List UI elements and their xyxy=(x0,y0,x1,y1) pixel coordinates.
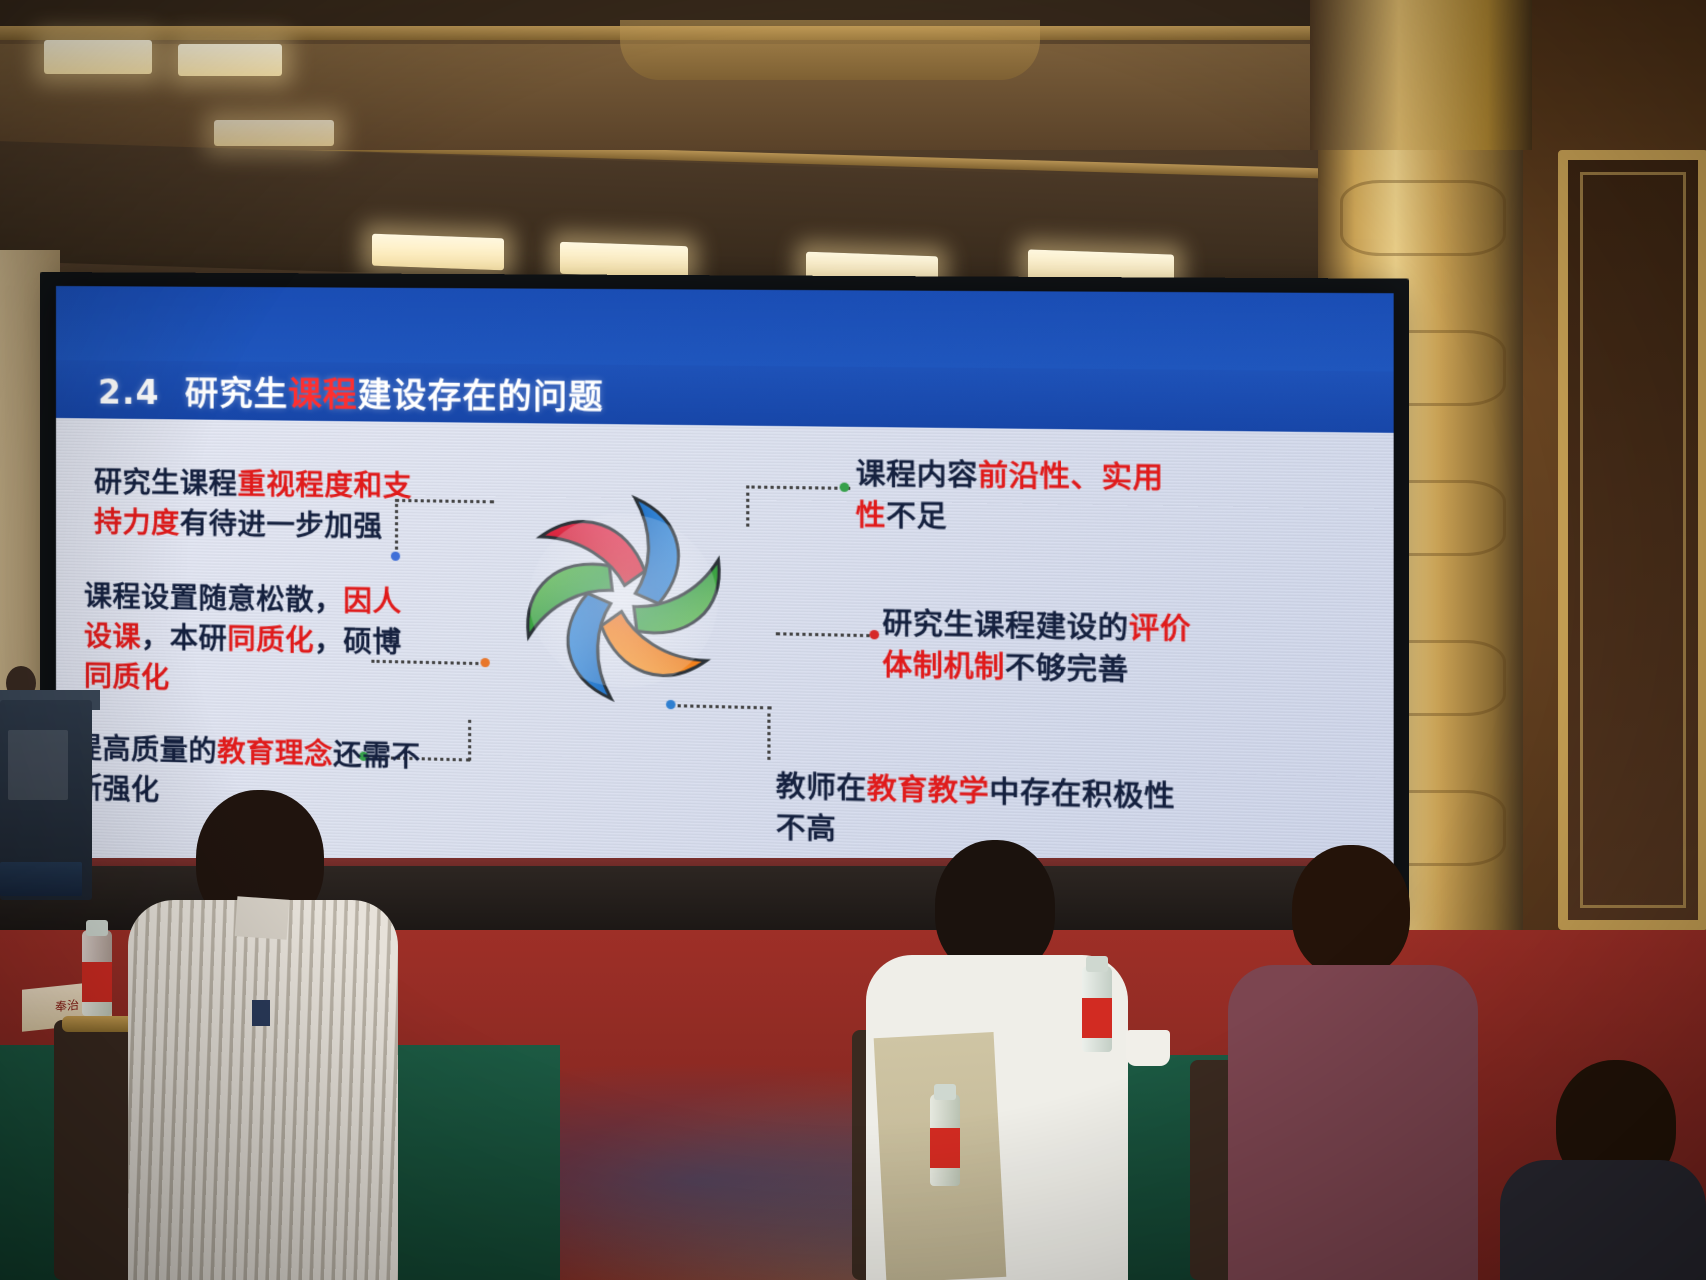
callout-text: 不高 xyxy=(776,810,837,846)
callout-text: 不够完善 xyxy=(1005,650,1129,687)
callout-line: 课程内容前沿性、实用 xyxy=(856,454,1247,501)
node-middle-left xyxy=(481,658,490,667)
wall-art-frame xyxy=(1558,150,1706,930)
node-top-left xyxy=(391,552,400,561)
audience-head-3 xyxy=(1292,845,1410,977)
callout-line: 设课，本研同质化，硕博 xyxy=(84,616,429,663)
callout-text: 课程内容 xyxy=(856,457,978,493)
audience-badge-1 xyxy=(252,1000,270,1026)
bottle-label-1 xyxy=(82,962,112,1002)
callout-line: 体制机制不够完善 xyxy=(882,644,1296,694)
slide-title-after: 建设存在的问题 xyxy=(358,375,604,417)
ceiling-ornament xyxy=(620,20,1040,80)
slide-title-before: 研究生 xyxy=(185,373,288,413)
bottle-cap-1 xyxy=(86,920,108,936)
callout-line: 研究生课程重视程度和支 xyxy=(94,462,450,507)
callout-highlight: 评价 xyxy=(1129,611,1191,647)
slide-top-strip xyxy=(56,286,1394,372)
callout-text: 研究生课程建设的 xyxy=(882,606,1128,645)
callout-text: 研究生课程 xyxy=(94,465,237,500)
callout-line: 性不足 xyxy=(856,495,1247,542)
ceiling-light-2 xyxy=(178,44,282,76)
callout-highlight: 教育教学 xyxy=(867,772,989,809)
connector-bottom-left-v xyxy=(468,720,471,761)
audience-collar-1 xyxy=(235,896,290,940)
callout-text: 提高质量的 xyxy=(74,731,217,768)
callout-highlight: 重视程度和支 xyxy=(237,467,412,503)
bottle-cap-3 xyxy=(934,1084,956,1100)
podium-logo xyxy=(8,730,68,800)
callout-text: ，硕博 xyxy=(314,624,402,659)
callout-highlight: 前沿性、实用 xyxy=(978,458,1164,495)
callout-text: ，本研 xyxy=(141,620,227,655)
ceiling-light-1 xyxy=(44,40,152,74)
audience-body-4 xyxy=(1500,1160,1706,1280)
callout-highlight: 持力度 xyxy=(94,505,180,539)
callout-top-left: 研究生课程重视程度和支持力度有待进一步加强 xyxy=(94,462,450,547)
conference-room-photo: 2.4 研究生课程建设存在的问题 xyxy=(0,0,1706,1280)
callout-line: 同质化 xyxy=(84,656,429,704)
callout-highlight: 同质化 xyxy=(84,659,170,694)
bottle-label-2 xyxy=(1082,998,1112,1038)
audience-body-3 xyxy=(1228,965,1478,1280)
callout-highlight: 因人 xyxy=(343,584,401,619)
paper-cup xyxy=(1126,1030,1170,1066)
callout-line: 持力度有待进一步加强 xyxy=(94,502,450,548)
node-bottom-right xyxy=(666,700,675,709)
slide-title-number: 2.4 xyxy=(98,372,160,412)
callout-line: 课程设置随意松散，因人 xyxy=(84,577,429,624)
callout-middle-right: 研究生课程建设的评价体制机制不够完善 xyxy=(882,603,1296,694)
node-middle-right xyxy=(870,630,880,640)
slide-title-highlight: 课程 xyxy=(288,374,357,414)
bottle-label-3 xyxy=(930,1128,960,1168)
node-top-right xyxy=(840,483,850,492)
callout-text: 课程设置随意松散， xyxy=(84,580,343,618)
ceiling-light-7 xyxy=(214,120,334,146)
callout-middle-left: 课程设置随意松散，因人设课，本研同质化，硕博同质化 xyxy=(84,577,429,704)
slide-title: 2.4 研究生课程建设存在的问题 xyxy=(98,365,604,419)
column-pattern-1 xyxy=(1340,180,1506,256)
callout-text: 中存在积极性 xyxy=(989,775,1175,814)
callout-highlight: 同质化 xyxy=(227,622,314,657)
callout-text: 还需不 xyxy=(333,738,421,774)
callout-text: 有待进一步加强 xyxy=(180,507,383,543)
callout-text: 不足 xyxy=(886,498,947,533)
bottle-cap-2 xyxy=(1086,956,1108,972)
connector-bottom-right-v xyxy=(767,706,770,760)
ceiling-light-4 xyxy=(560,242,688,278)
callout-text: 教师在 xyxy=(776,769,867,805)
connector-top-right-v xyxy=(746,485,749,526)
laptop xyxy=(0,862,82,896)
ceiling-light-3 xyxy=(372,234,504,271)
audience-body-1 xyxy=(128,900,398,1280)
callout-highlight: 设课 xyxy=(84,619,141,653)
column-capital xyxy=(1310,0,1532,150)
callout-highlight: 体制机制 xyxy=(882,648,1005,685)
callout-highlight: 性 xyxy=(856,498,886,533)
callout-highlight: 教育理念 xyxy=(217,735,333,771)
callout-top-right: 课程内容前沿性、实用性不足 xyxy=(856,454,1247,542)
